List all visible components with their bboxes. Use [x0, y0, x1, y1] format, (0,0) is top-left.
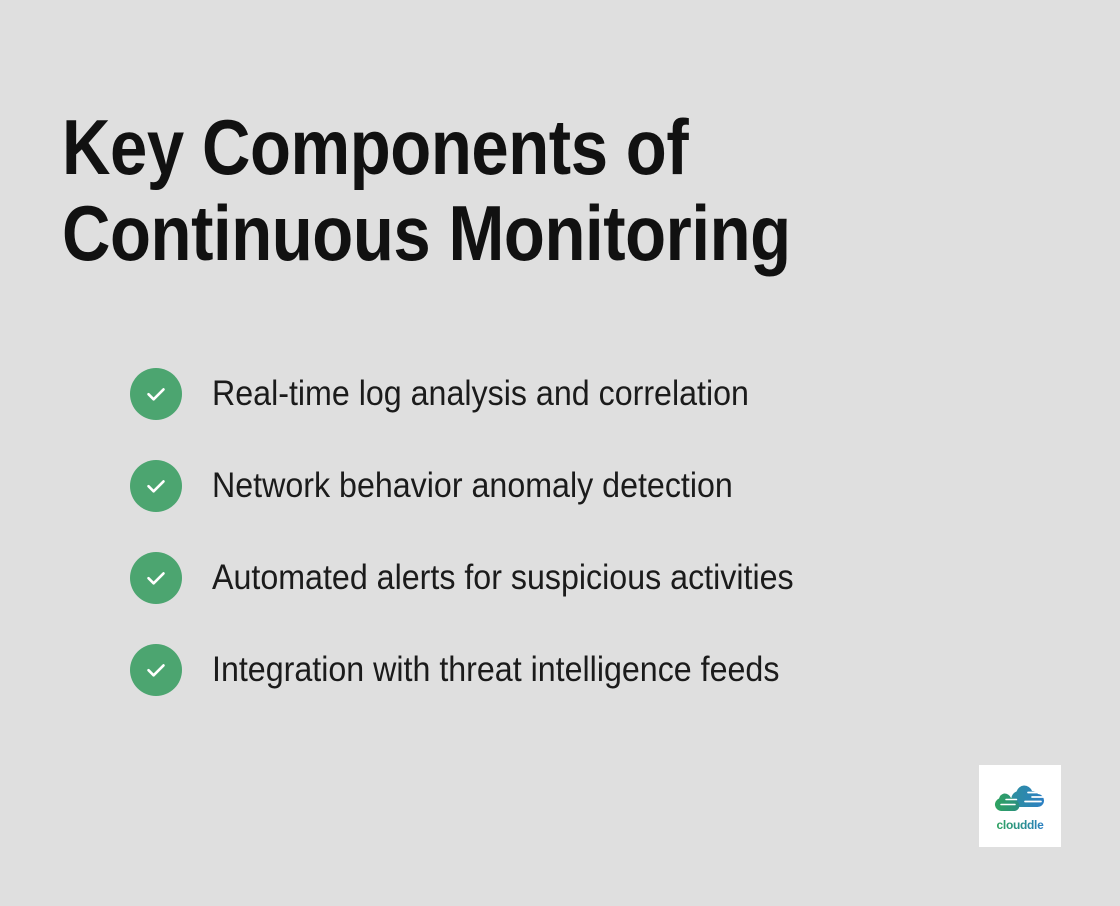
- list-item-label: Automated alerts for suspicious activiti…: [212, 558, 794, 598]
- check-circle-icon: [130, 644, 182, 696]
- check-circle-icon: [130, 368, 182, 420]
- clouddle-logo: clouddle: [979, 765, 1061, 847]
- svg-text:clouddle: clouddle: [997, 818, 1045, 832]
- logo-wordmark: clouddle: [989, 817, 1051, 833]
- cloud-mark-icon: [989, 780, 1051, 816]
- check-circle-icon: [130, 460, 182, 512]
- key-components-list: Real-time log analysis and correlation N…: [130, 368, 1030, 696]
- list-item-label: Integration with threat intelligence fee…: [212, 650, 779, 690]
- check-circle-icon: [130, 552, 182, 604]
- list-item-label: Real-time log analysis and correlation: [212, 374, 749, 414]
- list-item: Automated alerts for suspicious activiti…: [130, 552, 1030, 604]
- page-title: Key Components of Continuous Monitoring: [62, 104, 819, 276]
- list-item: Real-time log analysis and correlation: [130, 368, 1030, 420]
- list-item: Network behavior anomaly detection: [130, 460, 1030, 512]
- list-item: Integration with threat intelligence fee…: [130, 644, 1030, 696]
- list-item-label: Network behavior anomaly detection: [212, 466, 733, 506]
- slide-canvas: Key Components of Continuous Monitoring …: [0, 0, 1120, 906]
